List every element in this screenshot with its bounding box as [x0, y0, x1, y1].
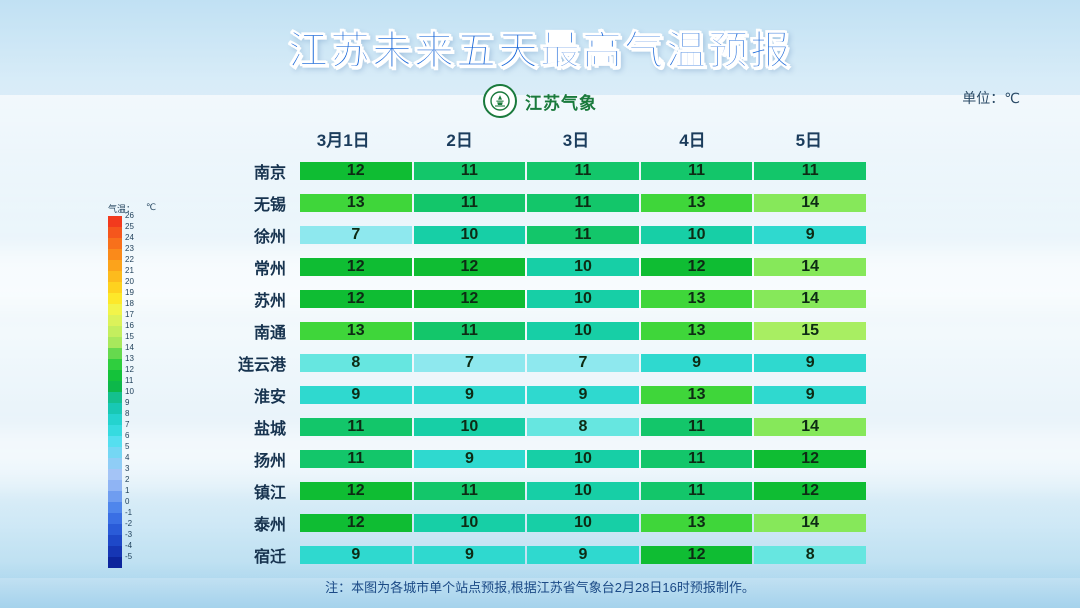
legend-segment: 22 [108, 260, 122, 271]
temperature-cell: 10 [414, 226, 526, 244]
legend-tick-label: -1 [125, 509, 132, 517]
logo-text: 江苏气象 [525, 89, 597, 114]
legend-segment: 23 [108, 249, 122, 260]
city-label: 常州 [196, 255, 300, 279]
legend-tick-label: 18 [125, 300, 134, 308]
page-title: 江苏未来五天最高气温预报 [0, 18, 1080, 76]
legend-tick-label: -4 [125, 542, 132, 550]
legend-segment: 11 [108, 381, 122, 392]
temperature-cell: 10 [527, 258, 639, 276]
legend-tick-label: 11 [125, 377, 133, 385]
temperature-cell: 7 [414, 354, 526, 372]
legend-color-scale: 2625242322212019181716151413121110987654… [108, 216, 122, 568]
legend-segment: 4 [108, 458, 122, 469]
legend-segment: 9 [108, 403, 122, 414]
temperature-cell: 7 [527, 354, 639, 372]
legend-tick-label: 26 [125, 212, 134, 220]
temperature-cell: 7 [300, 226, 412, 244]
logo-row: 江苏气象 [0, 84, 1080, 118]
footnote: 注：本图为各城市单个站点预报,根据江苏省气象台2月28日16时预报制作。 [0, 577, 1080, 596]
temperature-cell: 14 [754, 418, 866, 436]
legend-segment: 20 [108, 282, 122, 293]
table-row: 常州1212101214 [196, 252, 866, 282]
temperature-cell: 8 [754, 546, 866, 564]
legend-segment: -2 [108, 524, 122, 535]
temperature-cell: 14 [754, 258, 866, 276]
legend-tick-label: 7 [125, 421, 129, 429]
temperature-cell: 10 [527, 290, 639, 308]
legend-segment: 15 [108, 337, 122, 348]
value-cells: 87799 [300, 354, 866, 372]
table-row: 无锡1311111314 [196, 188, 866, 218]
legend-segment: 3 [108, 469, 122, 480]
temperature-cell: 12 [754, 482, 866, 500]
temperature-cell: 13 [641, 514, 753, 532]
city-label: 扬州 [196, 447, 300, 471]
date-header-4: 5日 [752, 126, 866, 151]
temperature-cell: 10 [527, 322, 639, 340]
temperature-cell: 12 [300, 290, 412, 308]
legend-segment: 26 [108, 216, 122, 227]
temperature-cell: 15 [754, 322, 866, 340]
temperature-cell: 11 [414, 162, 526, 180]
temperature-cell: 8 [300, 354, 412, 372]
legend-segment: 21 [108, 271, 122, 282]
table-row: 连云港87799 [196, 348, 866, 378]
temperature-cell: 11 [641, 162, 753, 180]
temperature-legend: 气温： ℃ 2625242322212019181716151413121110… [108, 216, 148, 568]
legend-tick-label: 2 [125, 476, 129, 484]
value-cells: 999128 [300, 546, 866, 564]
legend-segment: 7 [108, 425, 122, 436]
legend-tick-label: 8 [125, 410, 129, 418]
city-label: 淮安 [196, 383, 300, 407]
city-label: 宿迁 [196, 543, 300, 567]
temperature-cell: 10 [527, 450, 639, 468]
date-header-2: 3日 [519, 126, 633, 151]
table-row: 淮安999139 [196, 380, 866, 410]
unit-label: 单位：℃ [962, 88, 1020, 108]
temperature-cell: 9 [414, 546, 526, 564]
value-cells: 1211101112 [300, 482, 866, 500]
temperature-cell: 11 [527, 226, 639, 244]
forecast-table: 3月1日2日3日4日5日 南京1211111111无锡1311111314徐州7… [196, 120, 866, 572]
legend-tick-label: 16 [125, 322, 134, 330]
legend-segment: 1 [108, 491, 122, 502]
legend-segment: 5 [108, 447, 122, 458]
legend-tick-label: 21 [125, 267, 134, 275]
temperature-cell: 12 [300, 514, 412, 532]
temperature-cell: 9 [641, 354, 753, 372]
legend-segment: 6 [108, 436, 122, 447]
city-label: 无锡 [196, 191, 300, 215]
table-row: 泰州1210101314 [196, 508, 866, 538]
legend-segment: 0 [108, 502, 122, 513]
temperature-cell: 11 [414, 194, 526, 212]
temperature-cell: 13 [641, 290, 753, 308]
temperature-cell: 11 [414, 322, 526, 340]
legend-tick-label: 14 [125, 344, 134, 352]
legend-tick-label: 23 [125, 245, 134, 253]
temperature-cell: 9 [754, 386, 866, 404]
city-label: 苏州 [196, 287, 300, 311]
temperature-cell: 12 [641, 546, 753, 564]
temperature-cell: 12 [414, 290, 526, 308]
temperature-cell: 9 [527, 386, 639, 404]
date-header-3: 4日 [635, 126, 749, 151]
legend-tick-label: 12 [125, 366, 134, 374]
temperature-cell: 13 [641, 322, 753, 340]
legend-tick-label: 5 [125, 443, 129, 451]
legend-segment: -5 [108, 557, 122, 568]
value-cells: 119101112 [300, 450, 866, 468]
legend-tick-label: 22 [125, 256, 134, 264]
table-row: 苏州1212101314 [196, 284, 866, 314]
temperature-cell: 10 [641, 226, 753, 244]
legend-tick-label: 3 [125, 465, 129, 473]
temperature-cell: 9 [300, 386, 412, 404]
temperature-cell: 11 [641, 450, 753, 468]
temperature-cell: 10 [414, 514, 526, 532]
temperature-cell: 12 [641, 258, 753, 276]
date-header-1: 2日 [402, 126, 516, 151]
temperature-cell: 9 [300, 546, 412, 564]
temperature-cell: 13 [300, 322, 412, 340]
value-cells: 111081114 [300, 418, 866, 436]
temperature-cell: 10 [527, 482, 639, 500]
temperature-cell: 9 [527, 546, 639, 564]
city-label: 徐州 [196, 223, 300, 247]
value-cells: 1311111314 [300, 194, 866, 212]
legend-segment: 16 [108, 326, 122, 337]
legend-segment: 2 [108, 480, 122, 491]
city-label: 镇江 [196, 479, 300, 503]
value-cells: 1212101214 [300, 258, 866, 276]
legend-tick-label: 10 [125, 388, 134, 396]
temperature-cell: 9 [754, 226, 866, 244]
table-row: 扬州119101112 [196, 444, 866, 474]
city-label: 盐城 [196, 415, 300, 439]
legend-segment: -1 [108, 513, 122, 524]
legend-tick-label: 25 [125, 223, 134, 231]
legend-tick-label: 15 [125, 333, 134, 341]
legend-tick-label: 19 [125, 289, 134, 297]
legend-tick-label: 9 [125, 399, 129, 407]
legend-tick-label: 17 [125, 311, 134, 319]
legend-segment: 24 [108, 238, 122, 249]
temperature-cell: 12 [414, 258, 526, 276]
city-label: 南通 [196, 319, 300, 343]
legend-unit: ℃ [146, 202, 156, 213]
value-cells: 1311101315 [300, 322, 866, 340]
temperature-cell: 11 [527, 194, 639, 212]
legend-segment: 25 [108, 227, 122, 238]
table-row: 宿迁999128 [196, 540, 866, 570]
temperature-cell: 14 [754, 514, 866, 532]
legend-tick-label: -5 [125, 553, 132, 561]
weather-bureau-badge-icon [483, 84, 517, 118]
city-label: 泰州 [196, 511, 300, 535]
legend-tick-label: 0 [125, 498, 129, 506]
temperature-cell: 12 [300, 258, 412, 276]
temperature-cell: 14 [754, 194, 866, 212]
value-cells: 1212101314 [300, 290, 866, 308]
value-cells: 1210101314 [300, 514, 866, 532]
table-row: 南通1311101315 [196, 316, 866, 346]
table-row: 镇江1211101112 [196, 476, 866, 506]
temperature-cell: 11 [754, 162, 866, 180]
temperature-cell: 8 [527, 418, 639, 436]
temperature-cell: 10 [414, 418, 526, 436]
legend-segment: 13 [108, 359, 122, 370]
legend-segment: 8 [108, 414, 122, 425]
date-header-0: 3月1日 [286, 126, 400, 151]
temperature-cell: 11 [300, 450, 412, 468]
legend-segment: 14 [108, 348, 122, 359]
legend-tick-label: 20 [125, 278, 134, 286]
temperature-cell: 12 [754, 450, 866, 468]
legend-tick-label: -3 [125, 531, 132, 539]
temperature-cell: 9 [414, 450, 526, 468]
value-cells: 999139 [300, 386, 866, 404]
legend-tick-label: 1 [125, 487, 129, 495]
temperature-cell: 12 [300, 482, 412, 500]
temperature-cell: 11 [527, 162, 639, 180]
temperature-cell: 11 [641, 418, 753, 436]
legend-segment: -4 [108, 546, 122, 557]
temperature-cell: 14 [754, 290, 866, 308]
value-cells: 71011109 [300, 226, 866, 244]
legend-segment: -3 [108, 535, 122, 546]
legend-tick-label: 6 [125, 432, 129, 440]
temperature-cell: 13 [641, 386, 753, 404]
temperature-cell: 11 [414, 482, 526, 500]
temperature-cell: 13 [641, 194, 753, 212]
value-cells: 1211111111 [300, 162, 866, 180]
temperature-cell: 9 [754, 354, 866, 372]
temperature-cell: 11 [300, 418, 412, 436]
legend-segment: 18 [108, 304, 122, 315]
legend-segment: 12 [108, 370, 122, 381]
table-row: 盐城111081114 [196, 412, 866, 442]
legend-tick-label: 24 [125, 234, 134, 242]
legend-tick-label: -2 [125, 520, 132, 528]
city-label: 南京 [196, 159, 300, 183]
city-label: 连云港 [196, 351, 300, 375]
temperature-cell: 12 [300, 162, 412, 180]
table-row: 南京1211111111 [196, 156, 866, 186]
temperature-cell: 9 [414, 386, 526, 404]
table-header-row: 3月1日2日3日4日5日 [196, 120, 866, 156]
legend-segment: 19 [108, 293, 122, 304]
temperature-cell: 10 [527, 514, 639, 532]
legend-segment: 17 [108, 315, 122, 326]
temperature-cell: 13 [300, 194, 412, 212]
temperature-cell: 11 [641, 482, 753, 500]
legend-tick-label: 13 [125, 355, 134, 363]
legend-segment: 10 [108, 392, 122, 403]
table-row: 徐州71011109 [196, 220, 866, 250]
legend-tick-label: 4 [125, 454, 129, 462]
